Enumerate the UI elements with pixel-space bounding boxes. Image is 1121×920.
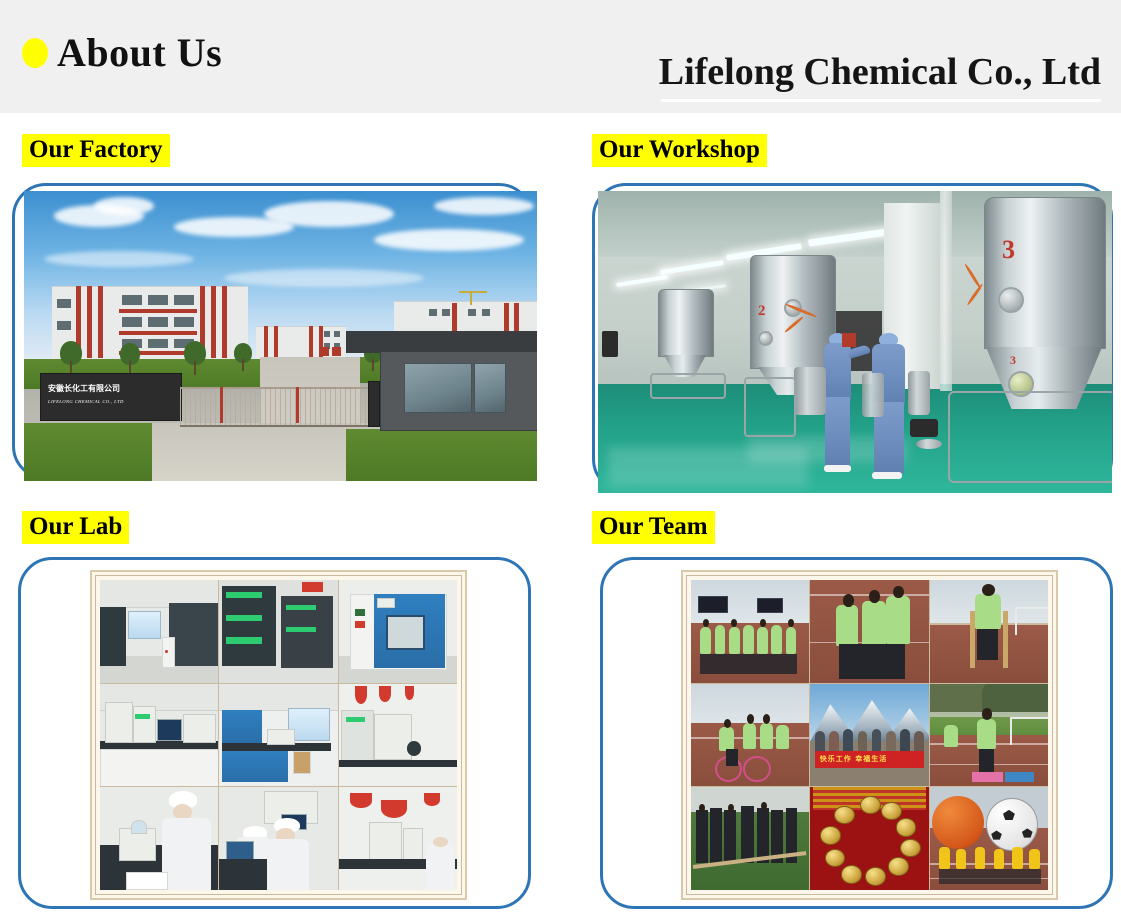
gate-post [220, 387, 223, 423]
factory-sign-wall [40, 373, 182, 421]
lab-photo-hplc-operator [219, 787, 337, 890]
lawn-front-right [346, 429, 537, 481]
window [482, 309, 490, 316]
worker-1-legs [825, 397, 850, 467]
team-photo-piggyback-race [930, 684, 1048, 787]
sliding-gate [180, 387, 368, 427]
construction-crane-mast [470, 291, 472, 305]
window [122, 295, 142, 305]
factory-sign-chinese: 安徽长化工有限公司 [48, 383, 120, 394]
control-box [842, 333, 856, 347]
tree-trunk [194, 361, 196, 375]
fluid-bed-dryer-3 [984, 197, 1106, 349]
equipment-number-2: 2 [758, 303, 766, 320]
company-name: Lifelong Chemical Co., Ltd [659, 50, 1101, 94]
process-drum [908, 371, 930, 415]
section-label-workshop: Our Workshop [592, 134, 767, 167]
page-header: About Us Lifelong Chemical Co., Ltd [0, 0, 1121, 113]
wall-edge [940, 191, 952, 391]
equipment-number-3: 3 [1002, 235, 1015, 265]
lab-photo-lc-lab-overview [339, 787, 457, 890]
guardhouse-window [404, 363, 472, 413]
window [122, 317, 142, 327]
tree-trunk [242, 359, 244, 371]
cloud [44, 251, 194, 267]
gate-post [296, 387, 299, 423]
stainless-bowl [916, 439, 942, 449]
lab-photo-balance-technician [100, 787, 218, 890]
lab-photo-hplc-stack [219, 580, 337, 683]
window [148, 317, 168, 327]
window [334, 331, 340, 337]
building-band [119, 331, 197, 335]
lab-collage [90, 570, 467, 900]
cloud [224, 269, 424, 287]
dryer-platform-3 [948, 391, 1112, 483]
team-photo-group-hug [810, 580, 928, 683]
equipment-number-3b: 3 [1010, 353, 1016, 368]
cloud [434, 197, 534, 215]
cloud [374, 229, 524, 251]
lawn-front-left [24, 423, 152, 481]
window [174, 317, 194, 327]
page-title: About Us [57, 33, 222, 73]
lab-photo-stability-chamber [339, 580, 457, 683]
team-photo-giant-ball-game [930, 787, 1048, 890]
team-photo-stilt-walking [930, 580, 1048, 683]
window [442, 309, 450, 316]
company-name-underline [661, 99, 1101, 102]
team-photo-grid: 快乐工作 幸福生活 [691, 580, 1048, 890]
team-photo-bike-race [691, 684, 809, 787]
sight-glass-3 [998, 287, 1024, 313]
building-stripe [87, 286, 92, 358]
window [429, 309, 437, 316]
building-band [119, 309, 197, 313]
workshop-photo: 2 3 3 [598, 191, 1112, 493]
guardhouse-window [474, 363, 506, 413]
lab-photo-grid [100, 580, 457, 890]
process-drum [862, 373, 884, 417]
vehicle [320, 347, 329, 356]
guardhouse-roof [346, 331, 537, 353]
window [324, 331, 330, 337]
section-label-lab: Our Lab [22, 511, 129, 544]
cloud [264, 201, 394, 227]
building-stripe [222, 286, 227, 358]
window [148, 295, 168, 305]
factory-sign-english: LIFELONG CHEMICAL CO., LTD [48, 399, 124, 404]
about-us-heading: About Us [22, 33, 222, 73]
window [57, 299, 71, 308]
fluid-bed-dryer-1 [658, 289, 714, 357]
team-banner-text: 快乐工作 幸福生活 [820, 754, 887, 764]
window [57, 321, 71, 330]
process-drum [794, 367, 826, 415]
section-label-factory: Our Factory [22, 134, 170, 167]
window [468, 309, 476, 316]
cloud [94, 197, 154, 215]
building-stripe [98, 286, 103, 358]
yellow-dot-icon [22, 38, 48, 68]
team-collage: 快乐工作 幸福生活 [681, 570, 1058, 900]
lab-photo-hplc-bench [100, 684, 218, 787]
window [148, 339, 168, 348]
lab-photo-fume-hood-bench [219, 684, 337, 787]
team-photo-tug-of-war [691, 787, 809, 890]
window [174, 295, 194, 305]
tree-trunk [372, 359, 374, 371]
team-photo-group-assembly [691, 580, 809, 683]
worker-2-shoes [872, 472, 902, 479]
trolley [744, 377, 796, 437]
factory-photo: 安徽长化工有限公司 LIFELONG CHEMICAL CO., LTD [24, 191, 537, 481]
building-stripe [211, 286, 216, 358]
team-photo-mountain-group: 快乐工作 幸福生活 [810, 684, 928, 787]
vehicle [332, 347, 341, 356]
dryer-frame-1 [650, 373, 726, 399]
lab-photo-corridor [100, 580, 218, 683]
lab-photo-gc-instrument [339, 684, 457, 787]
construction-crane [459, 291, 487, 293]
gate-pillar [368, 381, 380, 427]
worker-1-torso [824, 343, 851, 401]
section-label-team: Our Team [592, 511, 715, 544]
team-photo-medals [810, 787, 928, 890]
worker-1-shoes [824, 465, 851, 472]
motor-unit [910, 419, 938, 437]
sight-glass-2b [758, 331, 773, 346]
control-panel [602, 331, 618, 357]
